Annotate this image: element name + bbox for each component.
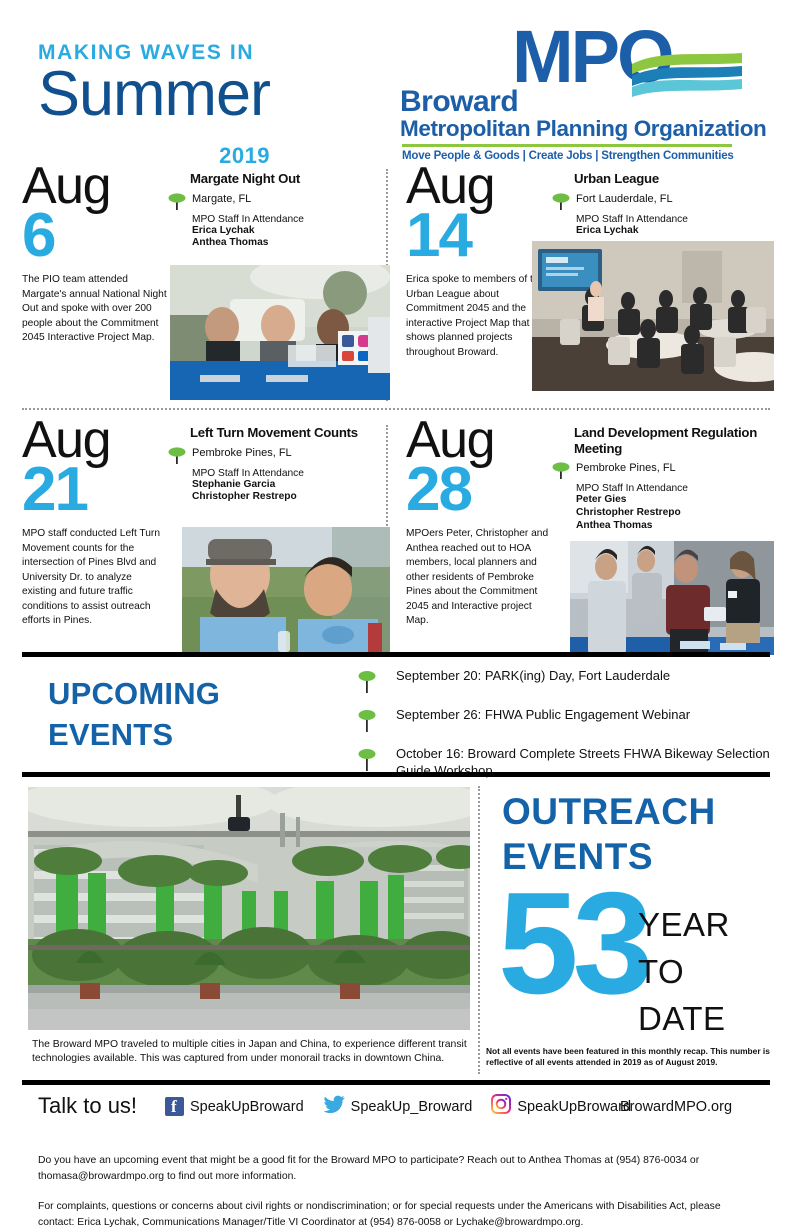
instagram-handle: SpeakUpBroward — [517, 1099, 631, 1115]
event-blurb: Erica spoke to members of the Urban Leag… — [406, 273, 552, 360]
event-info: Urban League Fort Lauderdale, FL MPO Sta… — [554, 171, 774, 237]
event-info: Land Development Regulation Meeting Pemb… — [554, 425, 774, 533]
event-location-row: Margate, FL — [170, 190, 390, 210]
header: MAKING WAVES IN Summer 2019 MPO Broward … — [0, 0, 792, 160]
upcoming-events-heading: UPCOMING EVENTS — [48, 674, 220, 756]
event-location-row: Fort Lauderdale, FL — [554, 190, 774, 210]
event-staff-name: Christopher Restrepo — [576, 507, 774, 520]
tree-icon — [358, 668, 376, 688]
event-staff-label: MPO Staff In Attendance — [192, 468, 390, 479]
footer-paragraph-contact: Do you have an upcoming event that might… — [38, 1153, 754, 1184]
twitter-link[interactable]: SpeakUp_Broward — [323, 1095, 473, 1119]
event-staff-label: MPO Staff In Attendance — [576, 483, 774, 494]
event-date: Aug 21 MPO staff conducted Left Turn Mov… — [22, 417, 174, 629]
event-day: 6 — [22, 209, 174, 264]
events-grid: Aug 6 The PIO team attended Margate's an… — [0, 163, 792, 651]
event-title: Urban League — [574, 171, 774, 187]
event-photo — [170, 265, 390, 400]
ytd-line-1: YEAR — [638, 902, 730, 949]
upcoming-event-text: September 26: FHWA Public Engagement Web… — [396, 705, 770, 724]
tree-icon — [168, 445, 186, 465]
upcoming-events-section: UPCOMING EVENTS September 20: PARK(ing) … — [0, 660, 792, 778]
upcoming-heading-line1: UPCOMING — [48, 674, 220, 715]
event-date: Aug 28 MPOers Peter, Christopher and Ant… — [406, 417, 558, 629]
instagram-icon — [491, 1094, 511, 1119]
logo-org-text: Metropolitan Planning Organization — [400, 116, 766, 142]
upcoming-event-text: September 20: PARK(ing) Day, Fort Lauder… — [396, 666, 770, 685]
ytd-line-2: TO — [638, 949, 730, 996]
logo-wave-graphic — [632, 52, 742, 104]
section-rule-bottom — [22, 772, 770, 777]
event-staff-label: MPO Staff In Attendance — [192, 214, 390, 225]
event-location-row: Pembroke Pines, FL — [170, 444, 390, 464]
facebook-link[interactable]: SpeakUpBroward — [165, 1097, 304, 1116]
event-info: Margate Night Out Margate, FL MPO Staff … — [170, 171, 390, 250]
event-staff-name: Erica Lychak — [576, 225, 774, 238]
event-day: 28 — [406, 463, 558, 518]
event-location-row: Pembroke Pines, FL — [554, 459, 774, 479]
tree-icon — [358, 746, 376, 766]
event-info: Left Turn Movement Counts Pembroke Pines… — [170, 425, 390, 504]
event-title: Left Turn Movement Counts — [190, 425, 390, 441]
travel-photo-caption: The Broward MPO traveled to multiple cit… — [32, 1038, 472, 1067]
twitter-handle: SpeakUp_Broward — [351, 1099, 473, 1115]
event-location: Fort Lauderdale, FL — [576, 190, 774, 206]
outreach-disclaimer: Not all events have been featured in thi… — [486, 1046, 776, 1068]
event-staff-name: Anthea Thomas — [192, 237, 390, 250]
event-staff-name: Christopher Restrepo — [192, 491, 390, 504]
event-staff-label: MPO Staff In Attendance — [576, 214, 774, 225]
grid-divider-horizontal — [22, 408, 770, 410]
tree-icon — [168, 191, 186, 211]
facebook-handle: SpeakUpBroward — [190, 1099, 304, 1115]
social-links: SpeakUpBroward SpeakUp_Broward — [165, 1094, 643, 1119]
facebook-icon — [165, 1097, 184, 1116]
event-staff-name: Peter Gies — [576, 494, 774, 507]
travel-photo — [28, 787, 470, 1030]
event-photo — [182, 527, 390, 652]
logo-divider — [402, 144, 732, 147]
event-staff-name: Anthea Thomas — [576, 520, 774, 533]
instagram-link[interactable]: SpeakUpBroward — [491, 1094, 631, 1119]
talk-to-us-label: Talk to us! — [38, 1093, 137, 1119]
tree-icon — [552, 191, 570, 211]
event-title: Margate Night Out — [190, 171, 390, 187]
outreach-heading-line1: OUTREACH — [502, 789, 716, 834]
ytd-line-3: DATE — [638, 996, 730, 1043]
year-to-date-label: YEAR TO DATE — [638, 902, 730, 1043]
event-title: Land Development Regulation Meeting — [574, 425, 774, 456]
logo-broward-text: Broward — [400, 85, 518, 119]
upcoming-event-item: September 26: FHWA Public Engagement Web… — [358, 705, 770, 739]
broward-mpo-logo: MPO Broward Metropolitan Planning Organi… — [400, 24, 745, 152]
event-blurb: MPOers Peter, Christopher and Anthea rea… — [406, 527, 552, 628]
event-photo — [532, 241, 774, 391]
event-location: Pembroke Pines, FL — [192, 444, 390, 460]
event-date: Aug 6 The PIO team attended Margate's an… — [22, 163, 174, 346]
event-photo — [570, 541, 774, 655]
masthead: MAKING WAVES IN Summer 2019 — [38, 42, 270, 125]
upcoming-event-item: September 20: PARK(ing) Day, Fort Lauder… — [358, 666, 770, 700]
event-blurb: MPO staff conducted Left Turn Movement c… — [22, 527, 168, 628]
event-staff-name: Erica Lychak — [192, 225, 390, 238]
tree-icon — [552, 460, 570, 480]
newsletter-page: MAKING WAVES IN Summer 2019 MPO Broward … — [0, 0, 792, 1224]
upcoming-events-list: September 20: PARK(ing) Day, Fort Lauder… — [358, 666, 770, 785]
outreach-divider-vertical — [478, 786, 480, 1074]
tree-icon — [358, 707, 376, 727]
upcoming-heading-line2: EVENTS — [48, 715, 220, 756]
outreach-count: 53 — [498, 871, 647, 1016]
twitter-icon — [323, 1095, 345, 1119]
website-link[interactable]: BrowardMPO.org — [620, 1099, 732, 1115]
masthead-season: Summer — [38, 65, 270, 125]
footer-paragraph-ada: For complaints, questions or concerns ab… — [38, 1199, 754, 1230]
footer: Talk to us! SpeakUpBroward SpeakUp_Browa… — [0, 1080, 792, 1224]
event-blurb: The PIO team attended Margate's annual N… — [22, 273, 168, 345]
section-rule-top — [22, 652, 770, 657]
event-location: Pembroke Pines, FL — [576, 459, 774, 475]
event-day: 21 — [22, 463, 174, 518]
event-staff-name: Stephanie Garcia — [192, 479, 390, 492]
event-location: Margate, FL — [192, 190, 390, 206]
